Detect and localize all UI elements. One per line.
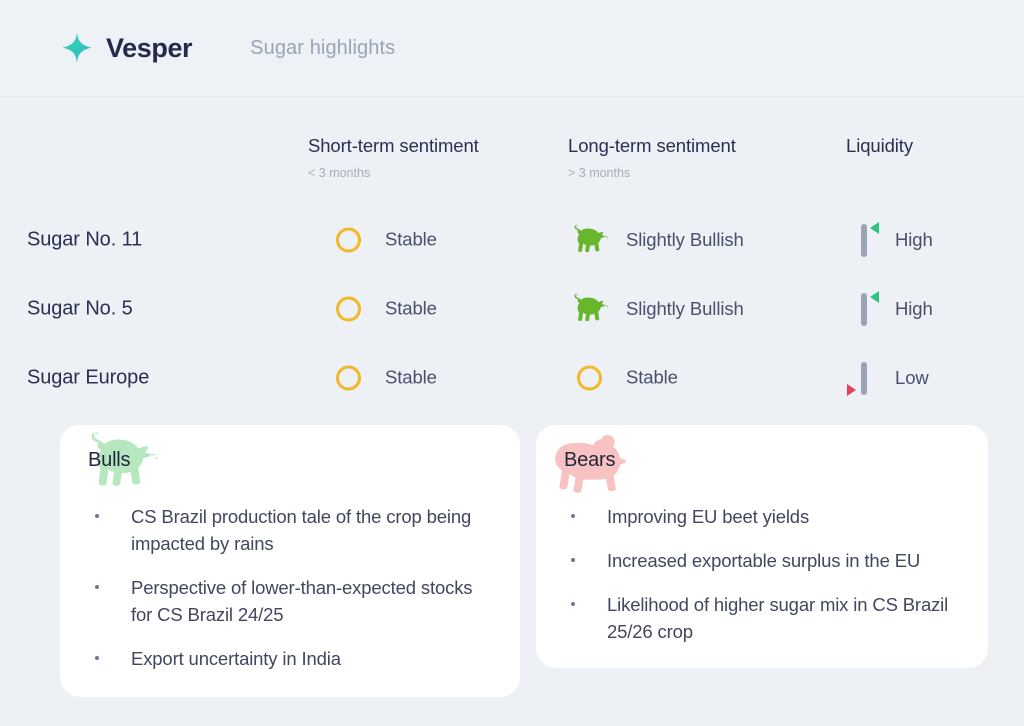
- bears-card-header: Bears: [536, 425, 988, 503]
- bulls-card: Bulls CS Brazil production tale of the c…: [60, 425, 520, 697]
- bull-icon: [566, 293, 612, 325]
- list-item: Export uncertainty in India: [94, 645, 494, 672]
- matrix-column-headers: Short-term sentiment < 3 months Long-ter…: [0, 135, 1024, 205]
- brand[interactable]: Vesper: [60, 31, 192, 65]
- sparkle-star-icon: [60, 31, 94, 65]
- stable-ring-icon: [325, 296, 371, 321]
- list-item: Improving EU beet yields: [570, 503, 962, 530]
- cell-long-term: Slightly Bullish: [566, 224, 744, 256]
- cell-short-term: Stable: [325, 365, 437, 390]
- table-row: Sugar No. 11 Stable Slightly Bullish Hig…: [0, 205, 1024, 274]
- column-title: Liquidity: [846, 135, 913, 157]
- page-title: Sugar highlights: [250, 37, 395, 60]
- cell-liquidity: High: [843, 287, 933, 331]
- app-header: Vesper Sugar highlights: [0, 0, 1024, 97]
- cell-value: Stable: [626, 367, 678, 389]
- stable-ring-icon: [325, 365, 371, 390]
- cell-short-term: Stable: [325, 296, 437, 321]
- sentiment-matrix: Short-term sentiment < 3 months Long-ter…: [0, 135, 1024, 412]
- cell-value: Stable: [385, 298, 437, 320]
- row-label: Sugar No. 5: [27, 297, 133, 320]
- bears-card-title: Bears: [564, 449, 615, 472]
- bull-icon: [566, 224, 612, 256]
- row-label: Sugar No. 11: [27, 228, 142, 251]
- stable-ring-icon: [325, 227, 371, 252]
- cell-value: Low: [895, 367, 929, 389]
- column-header-short-term: Short-term sentiment < 3 months: [308, 135, 479, 180]
- cell-value: Slightly Bullish: [626, 229, 744, 251]
- cell-value: Stable: [385, 229, 437, 251]
- column-subtitle: < 3 months: [308, 166, 479, 180]
- row-label: Sugar Europe: [27, 366, 149, 389]
- bulls-card-title: Bulls: [88, 449, 130, 472]
- column-title: Long-term sentiment: [568, 135, 736, 157]
- cell-value: Slightly Bullish: [626, 298, 744, 320]
- liquidity-high-icon: [843, 218, 883, 262]
- column-header-long-term: Long-term sentiment > 3 months: [568, 135, 736, 180]
- cell-value: High: [895, 229, 933, 251]
- list-item: Increased exportable surplus in the EU: [570, 547, 962, 574]
- cell-value: Stable: [385, 367, 437, 389]
- bears-list: Improving EU beet yields Increased expor…: [536, 503, 988, 645]
- list-item: CS Brazil production tale of the crop be…: [94, 503, 494, 557]
- cell-long-term: Slightly Bullish: [566, 293, 744, 325]
- column-subtitle: > 3 months: [568, 166, 736, 180]
- bulls-card-header: Bulls: [60, 425, 520, 503]
- cell-liquidity: Low: [843, 356, 929, 400]
- cell-long-term: Stable: [566, 365, 678, 390]
- table-row: Sugar No. 5 Stable Slightly Bullish High: [0, 274, 1024, 343]
- stable-ring-icon: [566, 365, 612, 390]
- cell-liquidity: High: [843, 218, 933, 262]
- list-item: Perspective of lower-than-expected stock…: [94, 574, 494, 628]
- column-title: Short-term sentiment: [308, 135, 479, 157]
- liquidity-low-icon: [843, 356, 883, 400]
- column-header-liquidity: Liquidity: [846, 135, 913, 157]
- table-row: Sugar Europe Stable Stable Low: [0, 343, 1024, 412]
- bulls-list: CS Brazil production tale of the crop be…: [60, 503, 520, 672]
- bears-card: Bears Improving EU beet yields Increased…: [536, 425, 988, 668]
- brand-name: Vesper: [106, 33, 192, 64]
- cell-short-term: Stable: [325, 227, 437, 252]
- liquidity-high-icon: [843, 287, 883, 331]
- list-item: Likelihood of higher sugar mix in CS Bra…: [570, 591, 962, 645]
- cell-value: High: [895, 298, 933, 320]
